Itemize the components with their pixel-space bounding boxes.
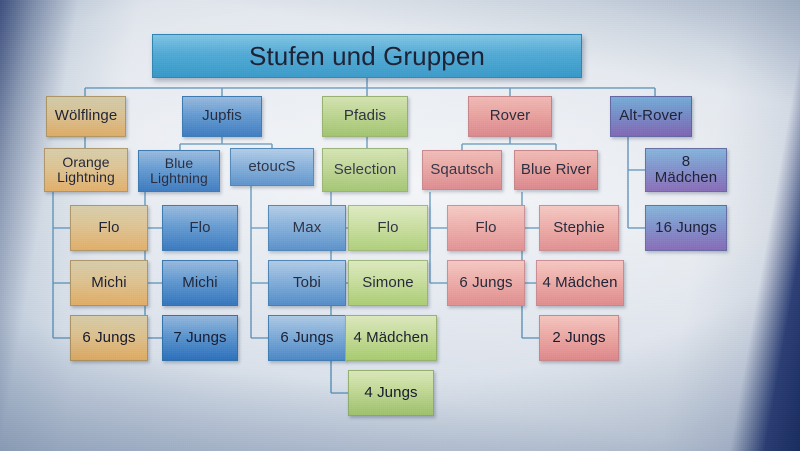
node-et-member-2-label: Tobi	[293, 275, 321, 291]
node-pfadis-label: Pfadis	[344, 108, 386, 124]
node-et-member-1[interactable]: Max	[268, 205, 346, 251]
node-selection-label: Selection	[334, 162, 397, 178]
node-br-member-1[interactable]: Stephie	[539, 205, 619, 251]
node-alt-rover-label: Alt-Rover	[619, 108, 682, 124]
node-blue-river[interactable]: Blue River	[514, 150, 598, 190]
node-bl-member-1-label: Flo	[189, 220, 210, 236]
node-ol-member-1-label: Flo	[98, 220, 119, 236]
node-rover-label: Rover	[490, 108, 531, 124]
node-se-member-3-label: 4 Mädchen	[353, 330, 428, 346]
node-se-member-2-label: Simone	[362, 275, 413, 291]
node-et-member-3[interactable]: 6 Jungs	[268, 315, 346, 361]
node-br-member-1-label: Stephie	[553, 220, 605, 236]
node-br-member-3-label: 2 Jungs	[552, 330, 605, 346]
node-ol-member-1[interactable]: Flo	[70, 205, 148, 251]
node-woelflinge-label: Wölflinge	[55, 108, 118, 124]
node-se-member-1[interactable]: Flo	[348, 205, 428, 251]
node-bl-member-3[interactable]: 7 Jungs	[162, 315, 238, 361]
node-se-member-4[interactable]: 4 Jungs	[348, 370, 434, 416]
node-ol-member-2-label: Michi	[91, 275, 127, 291]
node-jupfis-label: Jupfis	[202, 108, 242, 124]
node-ol-member-3[interactable]: 6 Jungs	[70, 315, 148, 361]
node-blue-lightning[interactable]: Blue Lightning	[138, 150, 220, 192]
node-rover[interactable]: Rover	[468, 96, 552, 137]
node-sqautsch-label: Sqautsch	[430, 162, 493, 178]
node-bl-member-3-label: 7 Jungs	[173, 330, 226, 346]
node-sq-member-2-label: 6 Jungs	[459, 275, 512, 291]
node-ar-member-1-label: 8 Mädchen	[649, 154, 723, 186]
node-sq-member-1[interactable]: Flo	[447, 205, 525, 251]
node-ol-member-3-label: 6 Jungs	[82, 330, 135, 346]
chart-title: Stufen und Gruppen	[152, 34, 582, 78]
node-se-member-3[interactable]: 4 Mädchen	[345, 315, 437, 361]
node-sq-member-2[interactable]: 6 Jungs	[447, 260, 525, 306]
node-blue-river-label: Blue River	[521, 162, 591, 178]
node-se-member-1-label: Flo	[377, 220, 398, 236]
node-ar-member-1[interactable]: 8 Mädchen	[645, 148, 727, 192]
node-br-member-2-label: 4 Mädchen	[542, 275, 617, 291]
node-ar-member-2-label: 16 Jungs	[655, 220, 717, 236]
node-orange-lightning-label: Orange Lightning	[48, 155, 124, 185]
node-sqautsch[interactable]: Sqautsch	[422, 150, 502, 190]
node-pfadis[interactable]: Pfadis	[322, 96, 408, 137]
node-bl-member-2[interactable]: Michi	[162, 260, 238, 306]
node-woelflinge[interactable]: Wölflinge	[46, 96, 126, 137]
node-blue-lightning-label: Blue Lightning	[142, 156, 216, 186]
node-sq-member-1-label: Flo	[475, 220, 496, 236]
node-bl-member-2-label: Michi	[182, 275, 218, 291]
node-et-member-2[interactable]: Tobi	[268, 260, 346, 306]
chart-title-text: Stufen und Gruppen	[249, 42, 485, 70]
node-br-member-3[interactable]: 2 Jungs	[539, 315, 619, 361]
node-et-member-1-label: Max	[293, 220, 322, 236]
node-ar-member-2[interactable]: 16 Jungs	[645, 205, 727, 251]
node-br-member-2[interactable]: 4 Mädchen	[536, 260, 624, 306]
node-orange-lightning[interactable]: Orange Lightning	[44, 148, 128, 192]
node-ol-member-2[interactable]: Michi	[70, 260, 148, 306]
node-alt-rover[interactable]: Alt-Rover	[610, 96, 692, 137]
node-se-member-4-label: 4 Jungs	[364, 385, 417, 401]
node-selection[interactable]: Selection	[322, 148, 408, 192]
node-bl-member-1[interactable]: Flo	[162, 205, 238, 251]
node-etoucs-label: etoucS	[248, 159, 295, 175]
node-et-member-3-label: 6 Jungs	[280, 330, 333, 346]
node-etoucs[interactable]: etoucS	[230, 148, 314, 186]
slide-photo: Stufen und Gruppen Wölflinge Orange Ligh…	[0, 0, 800, 451]
node-se-member-2[interactable]: Simone	[348, 260, 428, 306]
node-jupfis[interactable]: Jupfis	[182, 96, 262, 137]
